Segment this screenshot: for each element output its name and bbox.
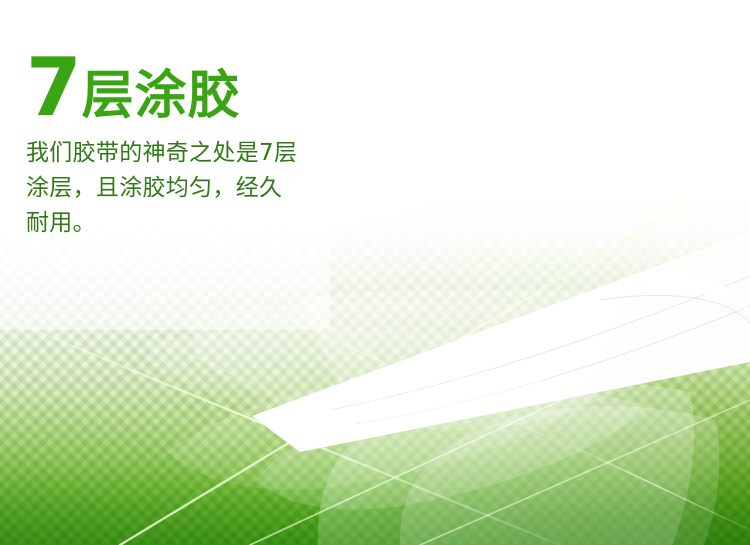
headline-label: 层涂胶 xyxy=(82,66,241,126)
body-line-1: 我们胶带的神奇之处是7层 xyxy=(26,136,356,171)
headline-number: 7 xyxy=(26,41,82,134)
body-line-3: 耐用。 xyxy=(26,206,356,241)
product-feature-banner: 7层涂胶 我们胶带的神奇之处是7层 涂层，且涂胶均匀，经久 耐用。 xyxy=(0,0,750,545)
page-title: 7层涂胶 xyxy=(26,52,356,124)
body-description: 我们胶带的神奇之处是7层 涂层，且涂胶均匀，经久 耐用。 xyxy=(26,136,356,241)
headline-text-block: 7层涂胶 我们胶带的神奇之处是7层 涂层，且涂胶均匀，经久 耐用。 xyxy=(26,52,356,241)
body-line-2: 涂层，且涂胶均匀，经久 xyxy=(26,171,356,206)
